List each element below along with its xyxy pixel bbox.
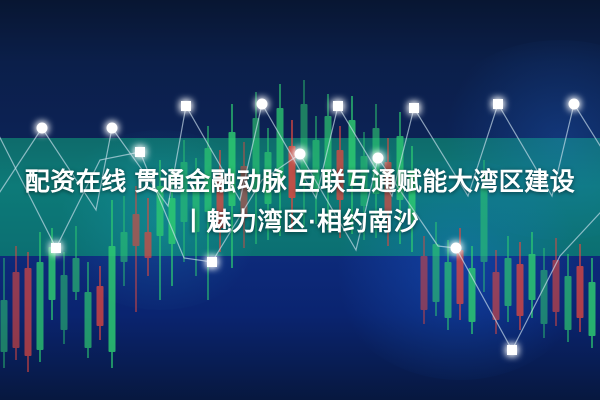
network-node-square	[135, 147, 145, 157]
network-node-square	[207, 257, 217, 267]
network-node-circle	[257, 99, 268, 110]
network-node-square	[409, 103, 419, 113]
network-node-circle	[37, 123, 48, 134]
network-node-square	[493, 99, 503, 109]
network-node-circle	[373, 153, 384, 164]
network-node-circle	[107, 123, 118, 134]
network-node-square	[507, 345, 517, 355]
network-node-square	[51, 243, 61, 253]
banner-image: 配资在线 贯通金融动脉 互联互通赋能大湾区建设 丨魅力湾区·相约南沙	[0, 0, 600, 400]
network-node-circle	[569, 99, 580, 110]
network-node-circle	[451, 243, 462, 254]
network-node-square	[181, 101, 191, 111]
network-line-chart	[0, 0, 600, 400]
network-node-circle	[295, 149, 306, 160]
network-node-square	[333, 101, 343, 111]
